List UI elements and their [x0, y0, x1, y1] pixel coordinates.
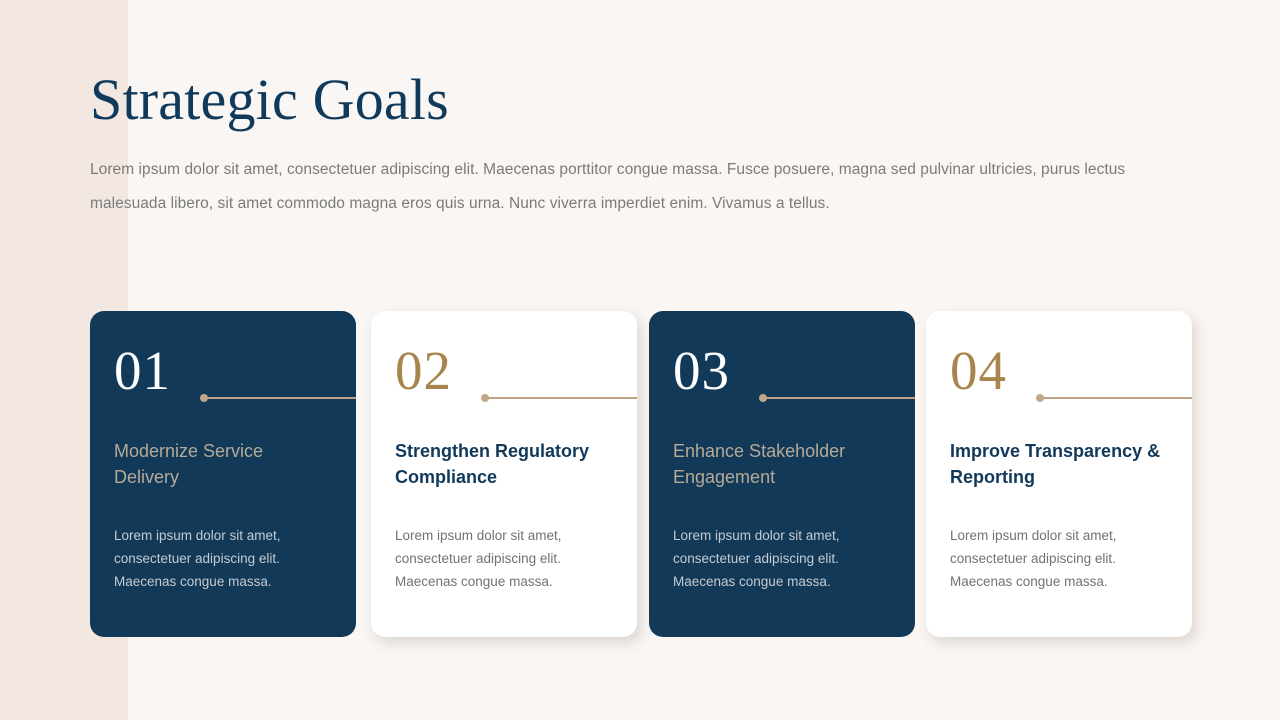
- goal-body-02: Lorem ipsum dolor sit amet, consectetuer…: [395, 524, 613, 594]
- goal-card-04[interactable]: 04 Improve Transparency & Reporting Lore…: [926, 311, 1192, 637]
- page-subtitle: Lorem ipsum dolor sit amet, consectetuer…: [90, 153, 1152, 221]
- goal-card-row: 01 Modernize Service Delivery Lorem ipsu…: [90, 311, 1190, 651]
- connector-line-04: [1036, 394, 1192, 402]
- goal-heading-04: Improve Transparency & Reporting: [950, 439, 1165, 490]
- connector-rule-icon: [207, 397, 356, 399]
- connector-line-01: [200, 394, 356, 402]
- goal-heading-01: Modernize Service Delivery: [114, 439, 329, 490]
- page-title: Strategic Goals: [90, 68, 1160, 133]
- slide-canvas: Strategic Goals Lorem ipsum dolor sit am…: [0, 0, 1280, 720]
- goal-body-03: Lorem ipsum dolor sit amet, consectetuer…: [673, 524, 891, 594]
- goal-body-01: Lorem ipsum dolor sit amet, consectetuer…: [114, 524, 332, 594]
- slide-header: Strategic Goals Lorem ipsum dolor sit am…: [90, 68, 1160, 221]
- goal-card-03[interactable]: 03 Enhance Stakeholder Engagement Lorem …: [649, 311, 915, 637]
- goal-number-02: 02: [395, 343, 452, 398]
- goal-card-01[interactable]: 01 Modernize Service Delivery Lorem ipsu…: [90, 311, 356, 637]
- goal-card-02[interactable]: 02 Strengthen Regulatory Compliance Lore…: [371, 311, 637, 637]
- goal-heading-03: Enhance Stakeholder Engagement: [673, 439, 888, 490]
- goal-heading-02: Strengthen Regulatory Compliance: [395, 439, 610, 490]
- goal-number-04: 04: [950, 343, 1007, 398]
- connector-line-02: [481, 394, 637, 402]
- connector-line-03: [759, 394, 915, 402]
- connector-rule-icon: [488, 397, 637, 399]
- goal-number-01: 01: [114, 343, 171, 398]
- goal-number-03: 03: [673, 343, 730, 398]
- goal-body-04: Lorem ipsum dolor sit amet, consectetuer…: [950, 524, 1168, 594]
- connector-rule-icon: [766, 397, 915, 399]
- connector-rule-icon: [1043, 397, 1192, 399]
